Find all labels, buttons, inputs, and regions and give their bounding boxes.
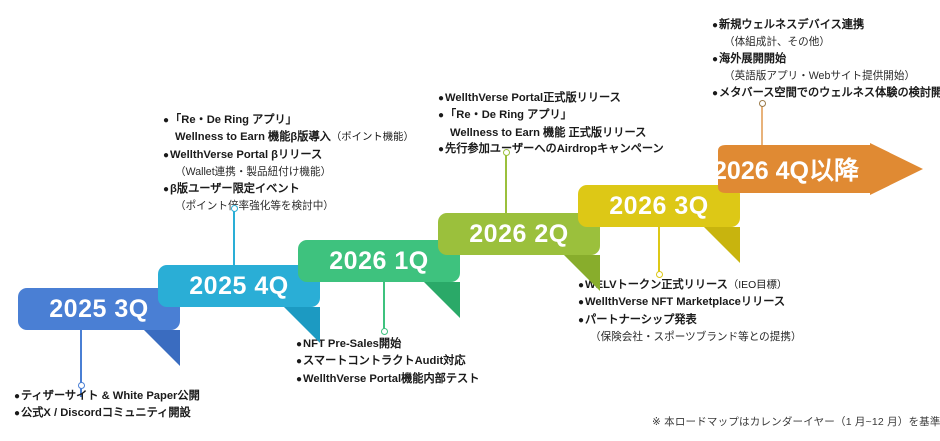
annotation-item: WellthVerse Portal正式版リリース	[438, 90, 664, 107]
milestone-body-2026-1q: 2026 1Q	[298, 240, 460, 282]
annotation-item: 新規ウェルネスデバイス連携	[712, 17, 940, 34]
annotation-subtext: （ポイント機能）	[331, 132, 414, 143]
annotations-2026-2q: WellthVerse Portal正式版リリース 「Re・De Ring アプ…	[438, 90, 664, 159]
milestone-banner-2026-2q[interactable]: 2026 2Q	[438, 213, 600, 255]
annotation-item: WellthVerse NFT Marketplaceリリース	[578, 294, 802, 311]
annotations-2025-4q: 「Re・De Ring アプリ」 Wellness to Earn 機能β版導入…	[163, 112, 414, 214]
milestone-banner-2025-4q[interactable]: 2025 4Q	[158, 265, 320, 307]
connector-dot-2025-3q	[78, 382, 85, 389]
annotations-2026-4q: 新規ウェルネスデバイス連携 （体組成計、その他） 海外展開開始 （英語版アプリ・…	[712, 17, 940, 102]
annotation-item: スマートコントラクトAudit対応	[296, 353, 479, 370]
milestone-label-2026-1q: 2026 1Q	[329, 247, 428, 276]
annotation-text: Wellness to Earn 機能β版導入	[175, 131, 331, 143]
annotation-subtext: （IEO目標）	[728, 280, 787, 291]
milestone-tail-2026-3q	[704, 227, 740, 263]
annotation-item: （英語版アプリ・Webサイト提供開始）	[712, 68, 940, 84]
annotation-item: Wellness to Earn 機能 正式版リリース	[438, 125, 664, 141]
connector-dot-2025-4q	[231, 205, 238, 212]
calendar-year-footnote: ※ 本ロードマップはカレンダーイヤー（1 月~12 月）を基準としています。	[652, 414, 940, 429]
milestone-tail-2025-4q	[284, 307, 320, 343]
milestone-label-2026-4q: 2026 4Q以降	[710, 143, 862, 195]
milestone-tail-2025-3q	[144, 330, 180, 366]
annotation-item: WellthVerse Portal βリリース	[163, 147, 414, 164]
annotation-item: β版ユーザー限定イベント	[163, 181, 414, 198]
roadmap-canvas: 2025 3Q 2025 4Q 2026 1Q	[0, 0, 940, 441]
milestone-banner-2026-4q[interactable]: 2026 4Q以降	[710, 143, 925, 195]
annotation-item: （体組成計、その他）	[712, 34, 940, 50]
annotation-item: 海外展開開始	[712, 51, 940, 68]
annotation-item: 「Re・De Ring アプリ」	[438, 107, 664, 124]
milestone-banner-2025-3q[interactable]: 2025 3Q	[18, 288, 180, 330]
connector-dot-2026-1q	[381, 328, 388, 335]
annotation-item: （Wallet連携・製品紐付け機能）	[163, 164, 414, 180]
annotations-2025-3q: ティザーサイト & White Paper公開 公式X / Discordコミュ…	[14, 388, 200, 423]
connector-line-2026-1q	[383, 282, 385, 332]
annotation-item: NFT Pre-Sales開始	[296, 336, 479, 353]
annotation-item: Wellness to Earn 機能β版導入（ポイント機能）	[163, 129, 414, 146]
connector-line-2026-3q	[658, 225, 660, 275]
annotation-item: （保険会社・スポーツブランド等との提携）	[578, 329, 802, 345]
milestone-label-2025-4q: 2025 4Q	[189, 272, 288, 301]
milestone-label-2026-3q: 2026 3Q	[609, 192, 708, 221]
annotation-item: WellthVerse Portal機能内部テスト	[296, 371, 479, 388]
annotation-item: 先行参加ユーザーへのAirdropキャンペーン	[438, 141, 664, 158]
connector-line-2026-2q	[505, 152, 507, 214]
milestone-label-2026-2q: 2026 2Q	[469, 220, 568, 249]
annotations-2026-1q: NFT Pre-Sales開始 スマートコントラクトAudit対応 Wellth…	[296, 336, 479, 388]
milestone-banner-2026-1q[interactable]: 2026 1Q	[298, 240, 460, 282]
annotation-item: パートナーシップ発表	[578, 312, 802, 329]
connector-dot-2026-4q	[759, 100, 766, 107]
milestone-body-2026-2q: 2026 2Q	[438, 213, 600, 255]
annotation-item: ティザーサイト & White Paper公開	[14, 388, 200, 405]
milestone-label-2025-3q: 2025 3Q	[49, 295, 148, 324]
annotation-item: メタバース空間でのウェルネス体験の検討開始	[712, 85, 940, 102]
connector-line-2025-4q	[233, 208, 235, 270]
annotation-item: 公式X / Discordコミュニティ開設	[14, 405, 200, 422]
connector-dot-2026-2q	[503, 149, 510, 156]
milestone-body-2025-4q: 2025 4Q	[158, 265, 320, 307]
milestone-tail-2026-1q	[424, 282, 460, 318]
annotations-2026-3q: WELVトークン正式リリース（IEO目標） WellthVerse NFT Ma…	[578, 277, 802, 346]
annotation-text: WELVトークン正式リリース	[585, 279, 728, 291]
annotation-item: 「Re・De Ring アプリ」	[163, 112, 414, 129]
connector-dot-2026-3q	[656, 271, 663, 278]
annotation-item: WELVトークン正式リリース（IEO目標）	[578, 277, 802, 294]
annotation-item: （ポイント倍率強化等を検討中）	[163, 198, 414, 214]
milestone-tail-2026-2q	[564, 255, 600, 291]
milestone-body-2025-3q: 2025 3Q	[18, 288, 180, 330]
